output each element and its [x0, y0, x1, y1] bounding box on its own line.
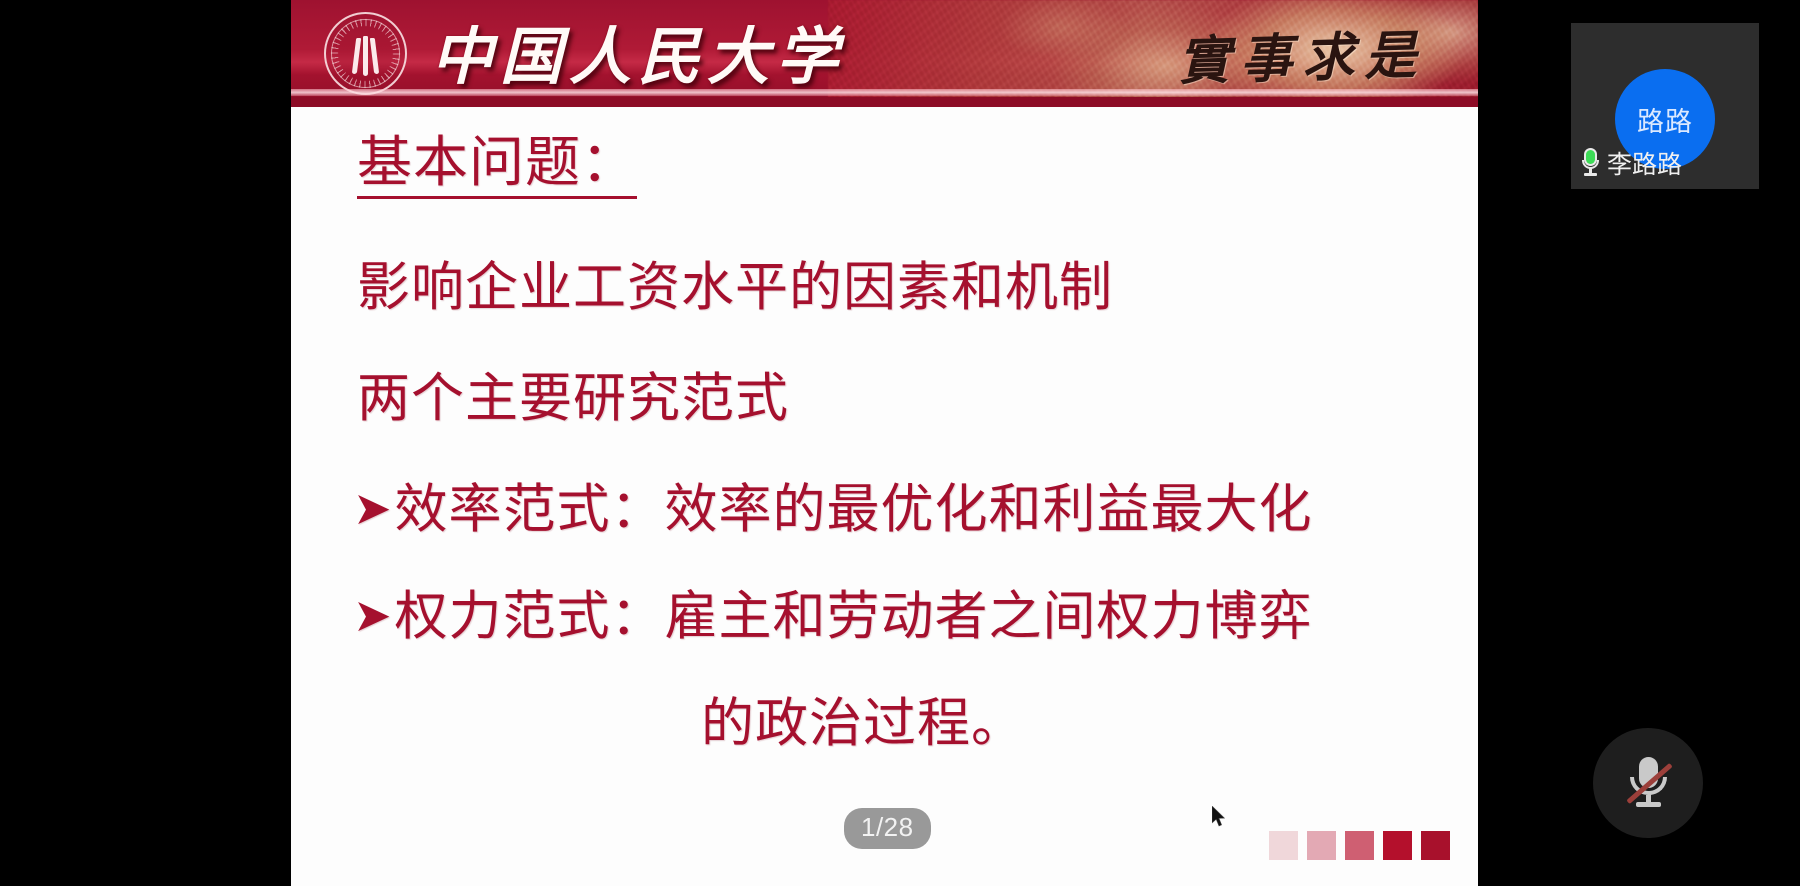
banner-highlight-stripe	[291, 89, 1478, 96]
swatch-4	[1383, 831, 1412, 860]
bullet-text: 权力范式：雇主和劳动者之间权力博弈	[395, 591, 1313, 644]
microphone-active-icon	[1581, 150, 1600, 176]
slide-line-political-process: 的政治过程。	[701, 698, 1025, 751]
slide-header-banner: 中国人民大学 實事求是	[291, 0, 1478, 107]
renmin-university-seal-icon	[324, 12, 407, 95]
university-name: 中国人民大学	[431, 6, 845, 96]
screen-share-view: 中国人民大学 實事求是 基本问题： 影响企业工资水平的因素和机制 两个主要研究范…	[0, 0, 1800, 886]
swatch-1	[1269, 831, 1298, 860]
banner-bottom-band	[291, 97, 1478, 107]
microphone-muted-icon	[1626, 755, 1670, 811]
slide-line-factors: 影响企业工资水平的因素和机制	[357, 262, 1113, 315]
motto-calligraphy: 實事求是	[1177, 13, 1427, 94]
slide-bullet-efficiency: ➤ 效率范式：效率的最优化和利益最大化	[353, 484, 1313, 537]
slide-title: 基本问题：	[357, 135, 637, 199]
seal-stroke	[370, 38, 379, 74]
mouse-pointer-icon	[1212, 806, 1228, 828]
presentation-slide[interactable]: 中国人民大学 實事求是 基本问题： 影响企业工资水平的因素和机制 两个主要研究范…	[291, 0, 1478, 886]
decorative-swatches	[1269, 831, 1450, 860]
mute-toggle-button[interactable]	[1593, 728, 1703, 838]
arrow-bullet-icon: ➤	[353, 486, 393, 532]
swatch-5	[1421, 831, 1450, 860]
swatch-3	[1345, 831, 1374, 860]
seal-glyph-strokes	[326, 34, 405, 78]
slide-content: 基本问题： 影响企业工资水平的因素和机制 两个主要研究范式 ➤ 效率范式：效率的…	[291, 107, 1478, 886]
page-indicator: 1/28	[844, 808, 931, 849]
arrow-bullet-icon: ➤	[353, 593, 393, 639]
swatch-2	[1307, 831, 1336, 860]
bullet-text: 效率范式：效率的最优化和利益最大化	[395, 484, 1313, 537]
participant-name: 李路路	[1607, 145, 1682, 181]
participant-video-tile[interactable]: 路路 李路路	[1571, 23, 1759, 189]
participant-name-row: 李路路	[1581, 145, 1682, 181]
slide-bullet-power: ➤ 权力范式：雇主和劳动者之间权力博弈	[353, 591, 1313, 644]
slide-line-paradigms: 两个主要研究范式	[357, 373, 789, 426]
seal-stroke	[363, 36, 368, 76]
seal-stroke	[352, 38, 361, 74]
